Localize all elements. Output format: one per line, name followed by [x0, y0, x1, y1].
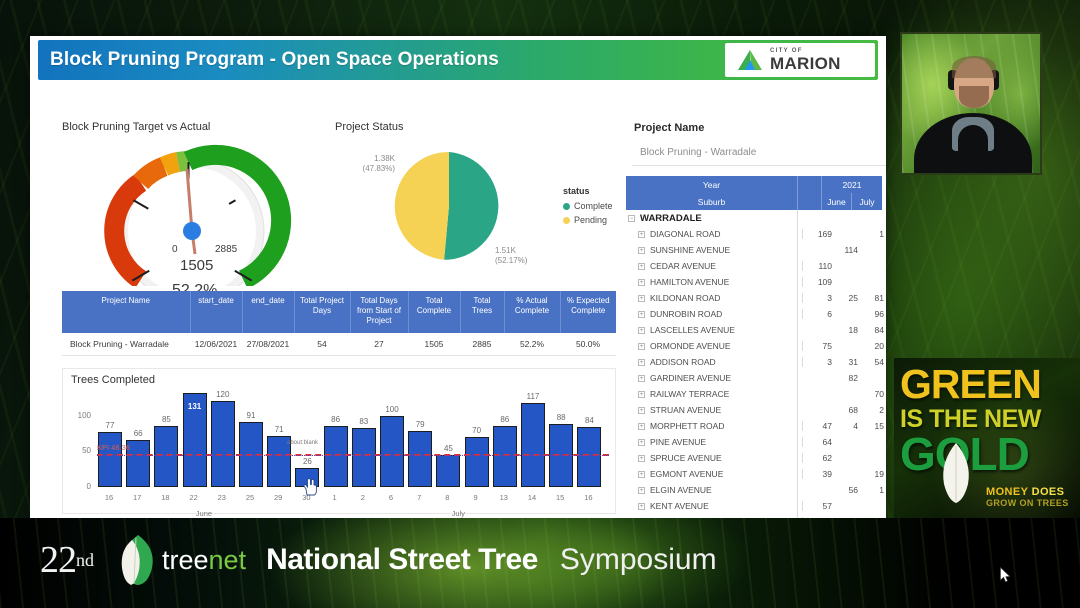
right-panel: Project Name Block Pruning - Warradale ▾…: [626, 118, 886, 518]
pie-label-pending: 1.38K (47.83%): [341, 154, 395, 174]
matrix-suburb-name: LASCELLES AVENUE: [650, 325, 802, 335]
matrix-cell-june: 25: [836, 293, 862, 303]
table-column-header[interactable]: % Actual Complete: [504, 291, 560, 333]
matrix-row[interactable]: +ELGIN AVENUE561: [626, 482, 886, 498]
table-column-header[interactable]: Total Project Days: [294, 291, 350, 333]
gauge-visual[interactable]: 0 2885 1505 52.2%: [62, 136, 324, 291]
bar-value-label: 26: [290, 457, 324, 466]
matrix-suburb-name: RAILWAY TERRACE: [650, 389, 802, 399]
pie-pending-percent: (47.83%): [341, 164, 395, 174]
expand-icon[interactable]: +: [638, 439, 645, 446]
banner-ordinal: nd: [76, 550, 94, 571]
expand-icon[interactable]: +: [638, 311, 645, 318]
matrix-cell-july: 1: [862, 485, 886, 495]
matrix-header: Year Suburb 2021 June July: [626, 176, 854, 210]
table-cell: Block Pruning - Warradale: [62, 333, 190, 356]
matrix-cell-june: 114: [836, 245, 862, 255]
bar-value-label: 66: [121, 429, 155, 438]
matrix-suburb-name: KILDONAN ROAD: [650, 293, 802, 303]
matrix-suburb-name: ADDISON ROAD: [650, 357, 802, 367]
gold-tagline-1: MONEY DOES: [986, 486, 1064, 498]
y-axis-tick: 0: [65, 482, 91, 491]
matrix-row[interactable]: +ORMONDE AVENUE7520: [626, 338, 886, 354]
matrix-row[interactable]: +DIAGONAL ROAD1691: [626, 226, 886, 242]
bar-value-label: 45: [431, 444, 465, 453]
table-column-header[interactable]: end_date: [242, 291, 294, 333]
expand-icon[interactable]: +: [638, 503, 645, 510]
presenter-beard: [959, 86, 989, 108]
matrix-row[interactable]: +PINE AVENUE64: [626, 434, 886, 450]
matrix-row[interactable]: +GARDINER AVENUE82: [626, 370, 886, 386]
pie-legend: status Complete Pending: [563, 186, 613, 229]
gold-tagline-2: GROW ON TREES: [986, 498, 1069, 508]
table-cell: 12/06/2021: [190, 333, 242, 356]
expand-icon[interactable]: +: [638, 375, 645, 382]
matrix-cell-june: 56: [836, 485, 862, 495]
expand-icon[interactable]: +: [638, 391, 645, 398]
matrix-row[interactable]: +KENT AVENUE57: [626, 498, 886, 514]
x-axis-tick: 16: [571, 493, 605, 502]
bar-value-label: 117: [516, 392, 550, 401]
leaf-icon: [938, 442, 974, 504]
project-summary-table[interactable]: Project Namestart_dateend_dateTotal Proj…: [62, 291, 616, 356]
bar[interactable]: [154, 426, 178, 487]
matrix-suburb-name: HAMILTON AVENUE: [650, 277, 802, 287]
matrix-row[interactable]: +SUNSHINE AVENUE114: [626, 242, 886, 258]
expand-icon[interactable]: +: [638, 327, 645, 334]
table-cell: 27/08/2021: [242, 333, 294, 356]
matrix-suburb-name: KENT AVENUE: [650, 501, 802, 511]
table-cell: 2885: [460, 333, 504, 356]
matrix-cell-total: 75: [802, 341, 836, 351]
table-cell: 54: [294, 333, 350, 356]
x-axis-month-june: June: [196, 509, 212, 518]
marion-logo-text: CITY OF MARION: [770, 48, 841, 72]
x-axis-month-july: July: [452, 509, 465, 518]
matrix-suburb-name: SPRUCE AVENUE: [650, 453, 802, 463]
expand-icon[interactable]: +: [638, 247, 645, 254]
banner-title-bold: National Street Tree: [266, 543, 538, 577]
table-column-header[interactable]: start_date: [190, 291, 242, 333]
bar-chart-title: Trees Completed: [71, 374, 155, 386]
bar[interactable]: [465, 437, 489, 487]
matrix-cell-june: 31: [836, 357, 862, 367]
expand-icon[interactable]: +: [638, 279, 645, 286]
pie-chart: [393, 150, 505, 262]
matrix-cell-total: 3: [802, 357, 836, 367]
matrix-cell-july: 19: [862, 469, 886, 479]
matrix-cell-june: 18: [836, 325, 862, 335]
matrix-row[interactable]: +EGMONT AVENUE3919: [626, 466, 886, 482]
matrix-cell-total: 109: [802, 277, 836, 287]
matrix-group-name: WARRADALE: [640, 213, 802, 224]
matrix-cell-july: 96: [862, 309, 886, 319]
bar-value-label: 91: [234, 411, 268, 420]
matrix-cell-total: 6: [802, 309, 836, 319]
hand-cursor-icon: [302, 478, 318, 496]
bar[interactable]: [493, 426, 517, 487]
gold-line-1: GREEN: [900, 366, 1041, 403]
bar[interactable]: [436, 455, 460, 487]
legend-item-complete[interactable]: Complete: [563, 201, 613, 211]
banner-title-light: Symposium: [560, 543, 717, 577]
matrix-suburb-name: STRUAN AVENUE: [650, 405, 802, 415]
expand-icon[interactable]: +: [638, 455, 645, 462]
matrix-cell-july: 1: [862, 229, 886, 239]
banner-brand-net: net: [209, 545, 247, 576]
legend-label-pending: Pending: [574, 215, 607, 225]
matrix-group-row[interactable]: −WARRADALE: [626, 210, 886, 226]
banner-content: 22 nd treenet National Street Tree Sympo…: [40, 534, 717, 586]
matrix-cell-total: 3: [802, 293, 836, 303]
table-column-header[interactable]: Total Trees: [460, 291, 504, 333]
gauge-title: Block Pruning Target vs Actual: [62, 121, 210, 133]
legend-dot-pending: [563, 217, 570, 224]
matrix-header-june: June: [822, 193, 852, 210]
matrix-suburb-name: GARDINER AVENUE: [650, 373, 802, 383]
matrix-row[interactable]: +ADDISON ROAD33154: [626, 354, 886, 370]
city-of-marion-logo: CITY OF MARION: [725, 43, 875, 77]
marion-mountain-icon: [737, 49, 763, 71]
report-header: Block Pruning Program - Open Space Opera…: [38, 40, 878, 80]
matrix-suburb-name: CEDAR AVENUE: [650, 261, 802, 271]
gold-tagline-money: MONEY: [986, 486, 1032, 498]
bar-value-label: 85: [149, 415, 183, 424]
green-is-the-new-gold-graphic: GREEN IS THE NEW GOLD MONEY DOES GROW ON…: [894, 358, 1080, 536]
pie-complete-value: 1.51K: [495, 246, 557, 256]
gauge-min-label: 0: [172, 244, 178, 255]
matrix-header-july: July: [852, 193, 882, 210]
bar-series: 7766851311209171268683100794570861178884: [97, 387, 607, 487]
table-column-header[interactable]: Project Name: [62, 291, 190, 333]
bar-value-label: 83: [347, 417, 381, 426]
bar[interactable]: [577, 427, 601, 487]
expand-icon[interactable]: +: [638, 263, 645, 270]
table-body: Block Pruning - Warradale12/06/202127/08…: [62, 333, 616, 356]
matrix-cell-total: 39: [802, 469, 836, 479]
bar-chart-plot: 050100 776685131120917126868310079457086…: [63, 387, 617, 515]
project-name-slicer[interactable]: Block Pruning - Warradale ▾: [632, 140, 886, 166]
presenter-hair: [952, 56, 996, 78]
table-cell: 52.2%: [504, 333, 560, 356]
matrix-row[interactable]: +LASCELLES AVENUE1884: [626, 322, 886, 338]
presenter-webcam[interactable]: [900, 32, 1042, 175]
legend-label-complete: Complete: [574, 201, 613, 211]
matrix-row[interactable]: +STRUAN AVENUE682: [626, 402, 886, 418]
matrix-row[interactable]: +DUNROBIN ROAD696: [626, 306, 886, 322]
expand-icon[interactable]: +: [638, 423, 645, 430]
matrix-header-suburb: Suburb: [626, 193, 798, 210]
table-header-row: Project Namestart_dateend_dateTotal Proj…: [62, 291, 616, 333]
expand-icon[interactable]: +: [638, 407, 645, 414]
slicer-selected-value: Block Pruning - Warradale: [640, 147, 756, 158]
matrix-cell-june: 68: [836, 405, 862, 415]
matrix-row[interactable]: +MORPHETT ROAD47415: [626, 418, 886, 434]
matrix-row[interactable]: +KILDONAN ROAD32581: [626, 290, 886, 306]
matrix-header-year-value: 2021: [822, 176, 882, 193]
matrix-cell-july: 15: [862, 421, 886, 431]
y-axis-tick: 100: [65, 411, 91, 420]
matrix-cell-total: 57: [802, 501, 836, 511]
trees-completed-visual[interactable]: Trees Completed 050100 77668513112091712…: [62, 368, 616, 514]
bar[interactable]: [98, 432, 122, 487]
matrix-cell-july: 84: [862, 325, 886, 335]
expand-icon[interactable]: +: [638, 487, 645, 494]
page-title: Block Pruning Program - Open Space Opera…: [50, 49, 499, 71]
suburb-matrix-visual[interactable]: Year Suburb 2021 June July −WARRADALE+DI…: [626, 176, 886, 518]
matrix-cell-total: 169: [802, 229, 836, 239]
banner-brand-tree: tree: [162, 545, 209, 576]
bar[interactable]: [408, 431, 432, 487]
bar-value-label: 131: [178, 402, 212, 411]
slicer-title: Project Name: [634, 122, 704, 134]
matrix-suburb-name: PINE AVENUE: [650, 437, 802, 447]
matrix-suburb-name: EGMONT AVENUE: [650, 469, 802, 479]
bar[interactable]: [352, 428, 376, 487]
table-cell: 27: [350, 333, 408, 356]
tooltip-about-blank: about:blank: [287, 440, 318, 446]
bar-value-label: 84: [572, 416, 606, 425]
gauge-value-label: 1505: [180, 257, 213, 274]
matrix-cell-total: 64: [802, 437, 836, 447]
gauge-max-label: 2885: [215, 244, 237, 255]
legend-item-pending[interactable]: Pending: [563, 215, 613, 225]
matrix-suburb-name: ORMONDE AVENUE: [650, 341, 802, 351]
y-axis-tick: 50: [65, 446, 91, 455]
matrix-row[interactable]: +HAMILTON AVENUE109: [626, 274, 886, 290]
treenet-leaf-icon: [112, 534, 156, 586]
matrix-suburb-name: DIAGONAL ROAD: [650, 229, 802, 239]
table-column-header[interactable]: Total Complete: [408, 291, 460, 333]
matrix-cell-july: 2: [862, 405, 886, 415]
expand-icon[interactable]: +: [638, 471, 645, 478]
kpi-label: KPI 46.36: [97, 443, 130, 452]
matrix-suburb-name: ELGIN AVENUE: [650, 485, 802, 495]
expand-icon[interactable]: +: [638, 359, 645, 366]
matrix-row[interactable]: +RAILWAY TERRACE70: [626, 386, 886, 402]
bar-value-label: 79: [403, 420, 437, 429]
matrix-cell-july: 54: [862, 357, 886, 367]
expand-icon[interactable]: +: [638, 231, 645, 238]
pie-label-complete: 1.51K (52.17%): [495, 246, 557, 266]
bar-value-label: 100: [375, 405, 409, 414]
pie-legend-title: status: [563, 186, 613, 196]
kpi-reference-line: [97, 454, 609, 456]
table-column-header[interactable]: Total Days from Start of Project: [350, 291, 408, 333]
table-cell: 1505: [408, 333, 460, 356]
bar[interactable]: [324, 426, 348, 487]
collapse-icon[interactable]: −: [628, 215, 635, 222]
mouse-cursor-icon: [1000, 567, 1011, 583]
matrix-header-total: [798, 176, 822, 210]
matrix-cell-june: 82: [836, 373, 862, 383]
table-cell: 50.0%: [560, 333, 616, 356]
expand-icon[interactable]: +: [638, 343, 645, 350]
gold-tagline-does: DOES: [1032, 486, 1065, 498]
powerbi-report: Block Pruning Program - Open Space Opera…: [30, 36, 886, 518]
matrix-suburb-name: DUNROBIN ROAD: [650, 309, 802, 319]
logo-marion-label: MARION: [770, 55, 841, 72]
table-column-header[interactable]: % Expected Complete: [560, 291, 616, 333]
symposium-banner: 22 nd treenet National Street Tree Sympo…: [0, 518, 1080, 608]
bar[interactable]: [380, 416, 404, 487]
bar[interactable]: [521, 403, 545, 487]
table-row[interactable]: Block Pruning - Warradale12/06/202127/08…: [62, 333, 616, 356]
pie-pending-value: 1.38K: [341, 154, 395, 164]
bar-value-label: 70: [460, 426, 494, 435]
bar-value-label: 86: [488, 415, 522, 424]
bar[interactable]: [211, 401, 235, 487]
pie-complete-percent: (52.17%): [495, 256, 557, 266]
matrix-cell-july: 70: [862, 389, 886, 399]
matrix-cell-total: 62: [802, 453, 836, 463]
pie-title: Project Status: [335, 121, 403, 133]
matrix-header-year: Year: [626, 176, 798, 193]
matrix-cell-june: 4: [836, 421, 862, 431]
matrix-row[interactable]: +CEDAR AVENUE110: [626, 258, 886, 274]
legend-dot-complete: [563, 203, 570, 210]
matrix-suburb-name: MORPHETT ROAD: [650, 421, 802, 431]
matrix-row[interactable]: +SPRUCE AVENUE62: [626, 450, 886, 466]
presenter-collar-inner: [958, 125, 988, 155]
matrix-cell-july: 81: [862, 293, 886, 303]
bar-value-label: 71: [262, 425, 296, 434]
matrix-cell-total: 47: [802, 421, 836, 431]
pie-visual[interactable]: 1.38K (47.83%) 1.51K (52.17%) status Com…: [335, 136, 620, 291]
matrix-cell-total: 110: [802, 261, 836, 271]
banner-number: 22: [40, 538, 76, 582]
bar-value-label: 120: [206, 390, 240, 399]
matrix-rows: −WARRADALE+DIAGONAL ROAD1691+SUNSHINE AV…: [626, 210, 886, 518]
matrix-suburb-name: SUNSHINE AVENUE: [650, 245, 802, 255]
expand-icon[interactable]: +: [638, 295, 645, 302]
matrix-cell-july: 20: [862, 341, 886, 351]
